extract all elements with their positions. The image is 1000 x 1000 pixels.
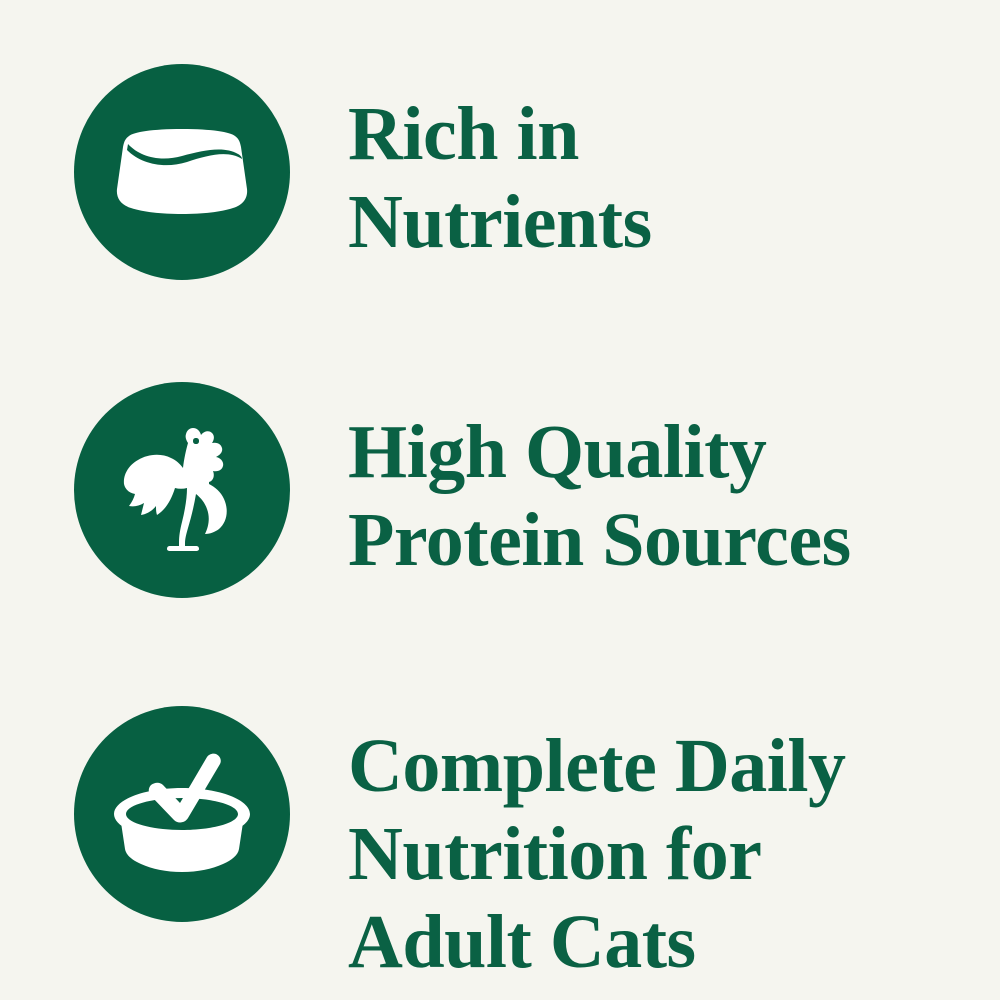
benefit-icon-badge xyxy=(74,64,290,280)
benefit-title: Complete Daily Nutrition for Adult Cats xyxy=(348,706,1000,986)
bowl-with-checkmark-icon xyxy=(112,752,252,876)
benefit-row: Complete Daily Nutrition for Adult Cats xyxy=(0,706,1000,936)
benefit-title: Rich in Nutrients xyxy=(348,64,1000,266)
benefit-icon-badge xyxy=(74,382,290,598)
pet-food-bowl-icon xyxy=(116,126,248,218)
benefits-panel: Rich in Nutrients High Quality Protein S… xyxy=(0,0,1000,1000)
benefit-row: High Quality Protein Sources xyxy=(0,382,1000,612)
benefit-row: Rich in Nutrients xyxy=(0,64,1000,294)
rooster-icon xyxy=(123,426,241,554)
benefit-title: High Quality Protein Sources xyxy=(348,382,1000,584)
benefit-icon-badge xyxy=(74,706,290,922)
